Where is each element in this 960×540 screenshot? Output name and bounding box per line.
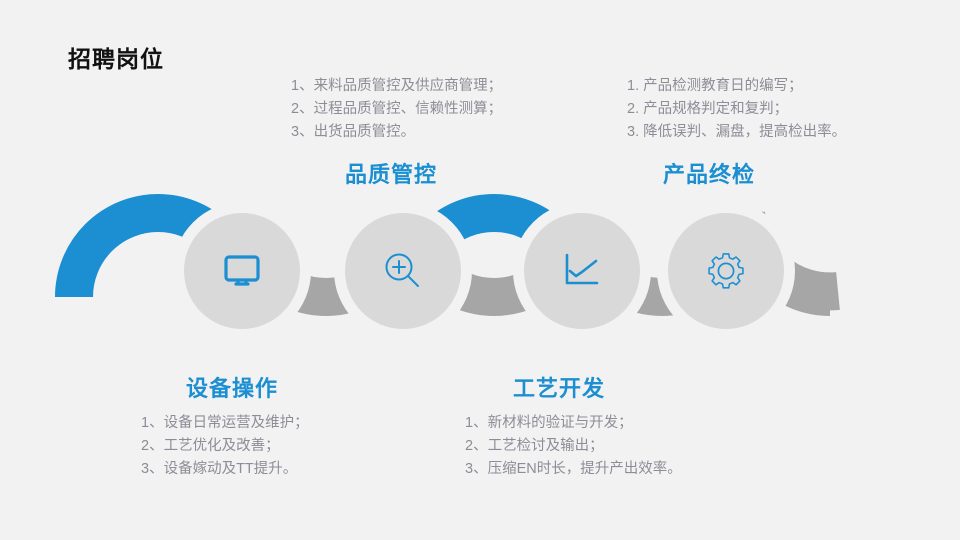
- description-line: 1、设备日常运营及维护；: [141, 412, 309, 435]
- description-process-development: 1、新材料的验证与开发； 2、工艺检讨及输出； 3、压缩EN时长，提升产出效率。: [465, 412, 682, 481]
- description-line: 2、工艺检讨及输出；: [465, 435, 682, 458]
- description-line: 3、出货品质管控。: [291, 121, 502, 144]
- description-line: 3、设备嫁动及TT提升。: [141, 458, 309, 481]
- description-quality-control: 1、来料品质管控及供应商管理； 2、过程品质管控、信赖性测算； 3、出货品质管控…: [291, 75, 502, 144]
- page-title: 招聘岗位: [68, 40, 164, 74]
- line-chart-icon: [559, 248, 605, 294]
- node-final-inspection[interactable]: [668, 213, 784, 329]
- slide-canvas: 招聘岗位: [0, 0, 960, 540]
- description-line: 3. 降低误判、漏盘，提高检出率。: [627, 121, 846, 144]
- description-final-inspection: 1. 产品检测教育日的编写； 2. 产品规格判定和复判； 3. 降低误判、漏盘，…: [627, 75, 846, 144]
- heading-quality-control: 品质管控: [345, 157, 437, 189]
- magnifier-plus-icon: [380, 248, 426, 294]
- description-line: 1. 产品检测教育日的编写；: [627, 75, 846, 98]
- gear-icon: [703, 248, 749, 294]
- node-process-development[interactable]: [524, 213, 640, 329]
- description-line: 1、来料品质管控及供应商管理；: [291, 75, 502, 98]
- node-equipment-operation[interactable]: [184, 213, 300, 329]
- description-line: 2、工艺优化及改善；: [141, 435, 309, 458]
- description-line: 1、新材料的验证与开发；: [465, 412, 682, 435]
- heading-process-development: 工艺开发: [513, 371, 605, 403]
- description-line: 3、压缩EN时长，提升产出效率。: [465, 458, 682, 481]
- heading-equipment-operation: 设备操作: [186, 371, 278, 403]
- wave-ribbon-graphic: [0, 155, 960, 370]
- node-quality-control[interactable]: [345, 213, 461, 329]
- description-line: 2、过程品质管控、信赖性测算；: [291, 98, 502, 121]
- description-equipment-operation: 1、设备日常运营及维护； 2、工艺优化及改善； 3、设备嫁动及TT提升。: [141, 412, 309, 481]
- heading-final-inspection: 产品终检: [663, 157, 755, 189]
- monitor-icon: [219, 248, 265, 294]
- description-line: 2. 产品规格判定和复判；: [627, 98, 846, 121]
